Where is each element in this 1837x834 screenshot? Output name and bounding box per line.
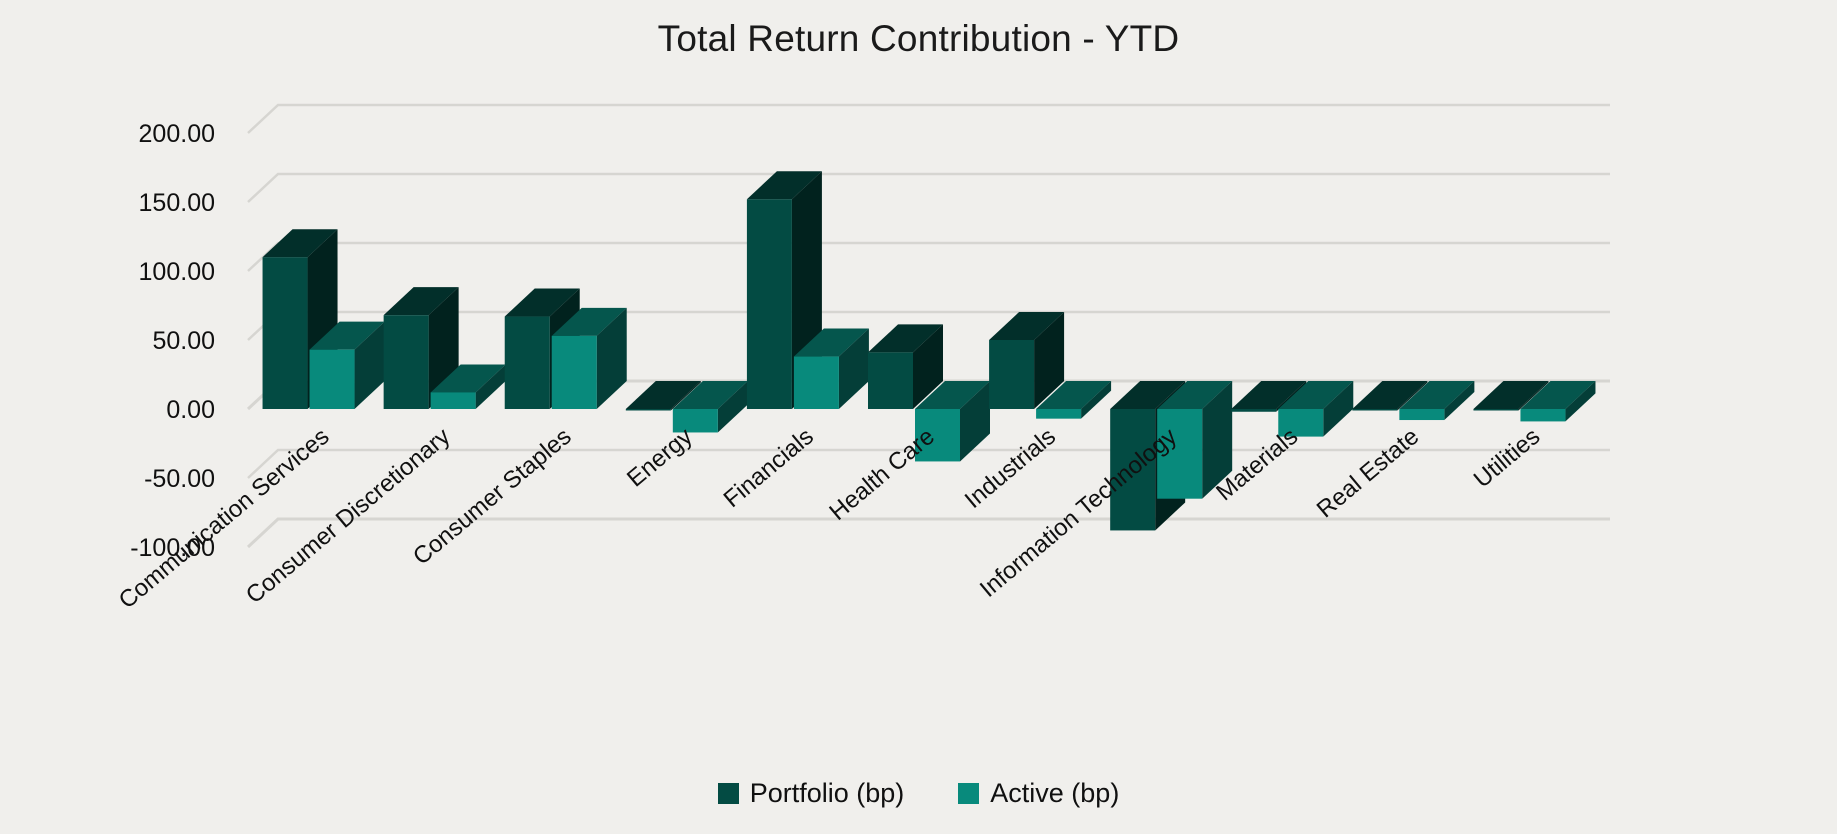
y-axis-tick-label: 150.00 (139, 189, 215, 217)
x-axis-category-label: Financials (719, 423, 819, 513)
gridline (248, 105, 1610, 133)
gridline (248, 174, 1610, 202)
y-axis-tick-label: 200.00 (139, 120, 215, 148)
x-axis-category-label: Utilities (1469, 423, 1546, 493)
legend-item[interactable]: Portfolio (bp) (718, 778, 905, 809)
legend-swatch-icon (718, 783, 739, 804)
bars-group (263, 171, 1596, 530)
x-axis-category-label: Energy (622, 423, 698, 493)
chart-plot-area: 200.00150.00100.0050.000.00-50.00-100.00… (0, 0, 1837, 834)
x-axis-category-label: Real Estate (1312, 423, 1424, 523)
chart-container: Total Return Contribution - YTD 200.0015… (0, 0, 1837, 834)
y-axis-tick-label: -50.00 (144, 465, 215, 493)
y-axis-tick-labels: 200.00150.00100.0050.000.00-50.00-100.00 (130, 120, 215, 562)
y-axis-tick-label: 100.00 (139, 258, 215, 286)
legend-item[interactable]: Active (bp) (958, 778, 1119, 809)
x-axis-category-label: Health Care (824, 423, 939, 526)
legend-swatch-icon (958, 783, 979, 804)
legend-label: Portfolio (bp) (750, 778, 905, 809)
gridline (248, 243, 1610, 271)
chart-legend: Portfolio (bp)Active (bp) (0, 778, 1837, 809)
legend-label: Active (bp) (990, 778, 1119, 809)
y-axis-tick-label: 50.00 (152, 327, 215, 355)
y-axis-tick-label: 0.00 (166, 396, 215, 424)
